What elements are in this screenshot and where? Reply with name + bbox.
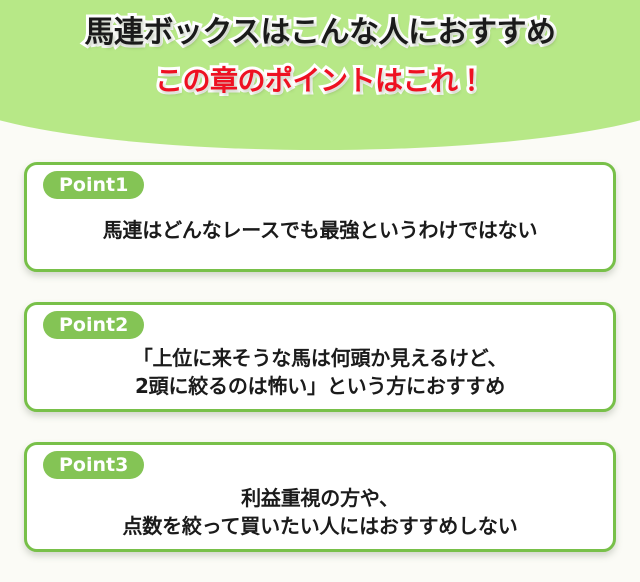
point-card: Point3利益重視の方や、点数を絞って買いたい人にはおすすめしない [24,442,616,552]
page-subtitle: この章のポイントはこれ！ [155,65,485,97]
point-card: Point2「上位に来そうな馬は何頭か見えるけど、2頭に絞るのは怖い」という方に… [24,302,616,412]
point-badge: Point3 [43,451,144,479]
point-card-body: 馬連はどんなレースでも最強というわけではない [27,195,613,269]
point-badge: Point2 [43,311,144,339]
point-card-body: 「上位に来そうな馬は何頭か見えるけど、2頭に絞るのは怖い」という方におすすめ [27,339,613,409]
point-card-text-line: 馬連はどんなレースでも最強というわけではない [103,216,538,244]
point-card-body: 利益重視の方や、点数を絞って買いたい人にはおすすめしない [27,479,613,549]
header-text-block: 馬連ボックスはこんな人におすすめ この章のポイントはこれ！ [0,0,640,140]
point-card-text-line: 「上位に来そうな馬は何頭か見えるけど、 [133,344,508,372]
point-card: Point1馬連はどんなレースでも最強というわけではない [24,162,616,272]
point-card-text-line: 2頭に絞るのは怖い」という方におすすめ [135,372,505,400]
point-card-text-line: 利益重視の方や、 [241,484,399,512]
point-card-text-line: 点数を絞って買いたい人にはおすすめしない [123,512,518,540]
point-card-list: Point1馬連はどんなレースでも最強というわけではないPoint2「上位に来そ… [0,162,640,552]
page-title: 馬連ボックスはこんな人におすすめ [84,16,555,51]
